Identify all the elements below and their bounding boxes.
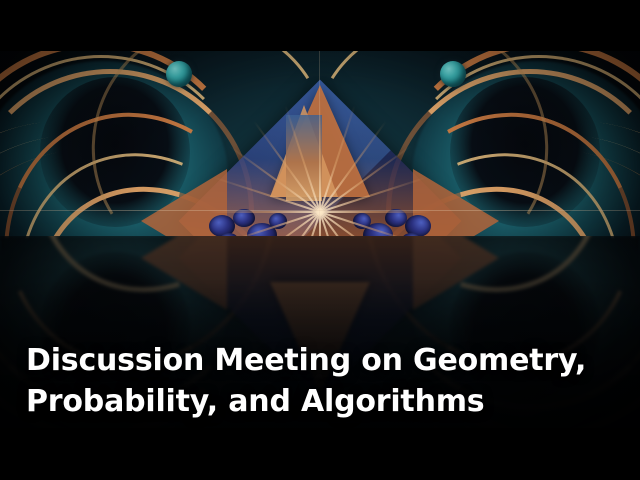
star-wing-left [141, 236, 227, 310]
horizontal-seam-line [0, 210, 640, 211]
letterbox-bar-top [0, 0, 640, 51]
gold-arc [0, 236, 357, 343]
turquoise-orb-right [440, 61, 466, 87]
gold-arc [283, 236, 640, 343]
title-overlay: Discussion Meeting on Geometry, Probabil… [26, 340, 626, 428]
fan-ray [208, 211, 320, 213]
letterbox-bar-bottom [0, 428, 640, 480]
video-frame: Discussion Meeting on Geometry, Probabil… [0, 0, 640, 480]
fan-ray [320, 211, 432, 213]
turquoise-orb-left [166, 61, 192, 87]
star-wing-right [413, 236, 499, 310]
video-title: Discussion Meeting on Geometry, Probabil… [26, 340, 626, 428]
